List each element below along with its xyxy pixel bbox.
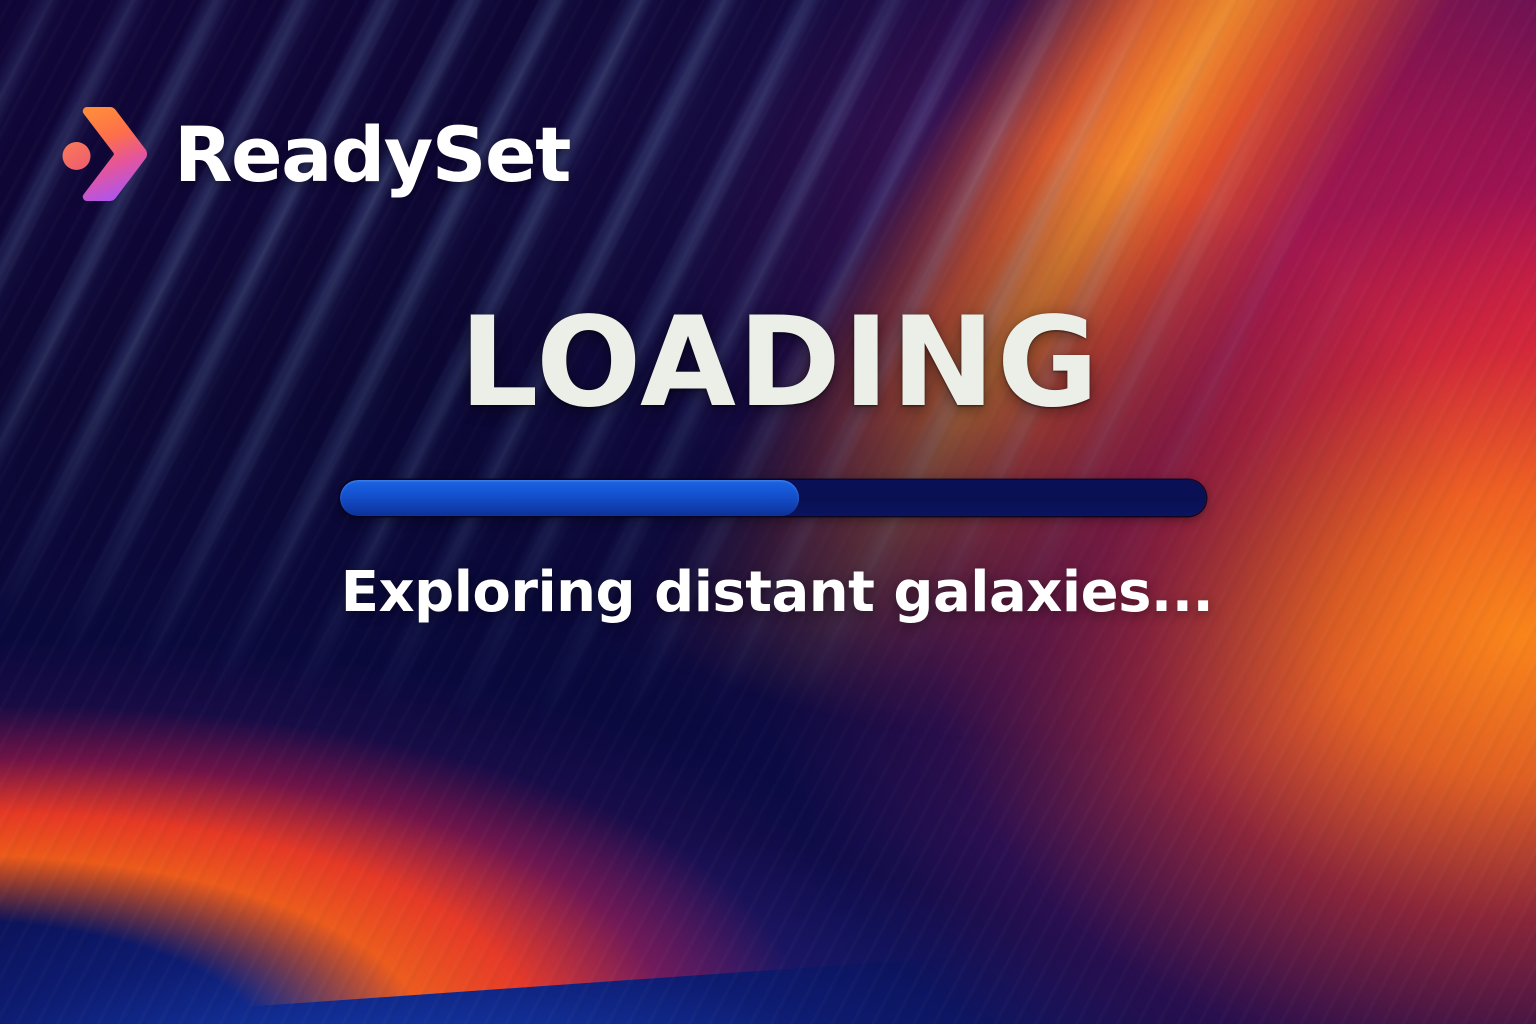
loading-title: LOADING: [459, 300, 1100, 426]
chevron-right-icon: [62, 104, 148, 206]
loading-status-text: Exploring distant galaxies...: [341, 560, 1214, 625]
progress-bar-fill: [340, 480, 799, 516]
loading-screen: ReadySet LOADING Exploring distant galax…: [0, 0, 1536, 1024]
brand-name: ReadySet: [174, 117, 570, 193]
brand-logo[interactable]: ReadySet: [62, 104, 570, 206]
progress-bar-track: [340, 480, 1206, 516]
loading-content: LOADING Exploring distant galaxies...: [0, 300, 1536, 625]
